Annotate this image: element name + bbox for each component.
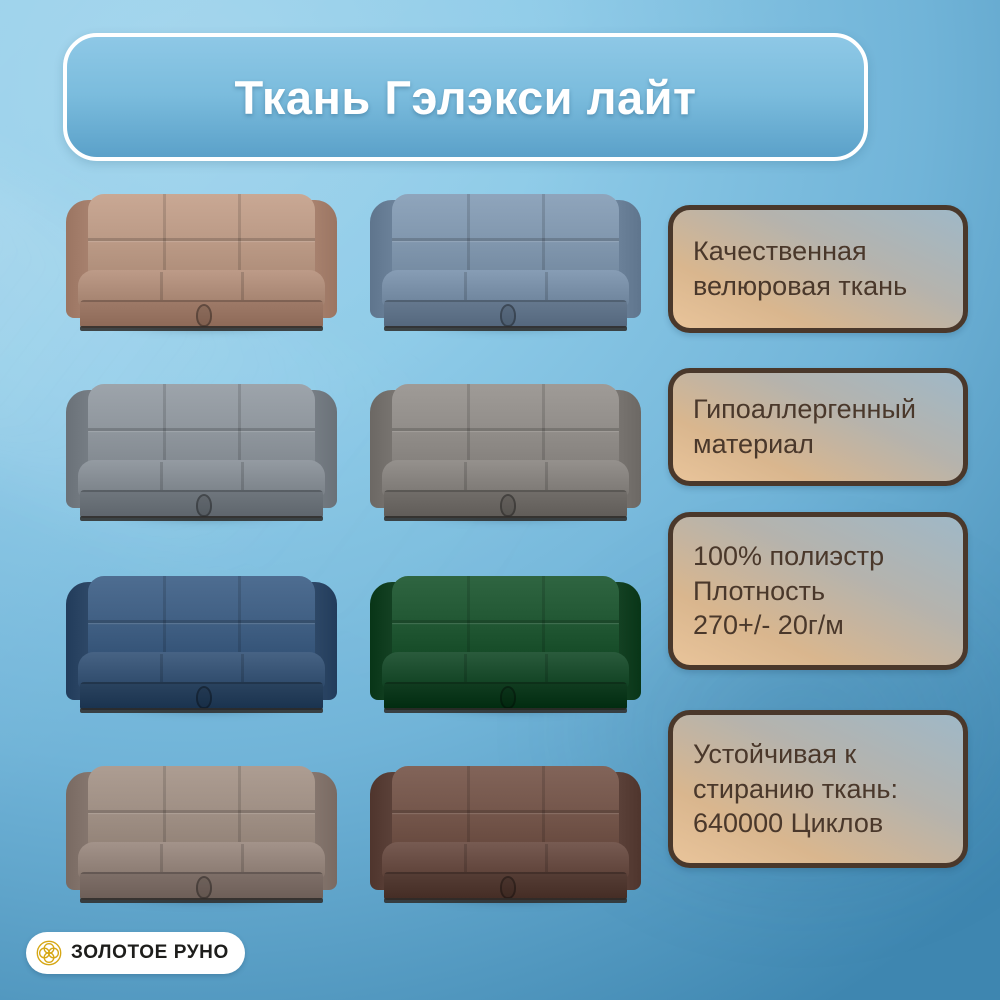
- seam-horizontal: [88, 238, 315, 241]
- feature-line: Качественная: [693, 234, 943, 269]
- feature-line: Устойчивая к: [693, 737, 943, 772]
- brand-logo[interactable]: ЗОЛОТОЕ РУНО: [26, 932, 245, 974]
- sofa-foot-rail: [384, 708, 627, 713]
- sofa-foot-rail: [384, 516, 627, 521]
- seam-vertical: [238, 576, 241, 662]
- brand-name: ЗОЛОТОЕ РУНО: [71, 942, 229, 964]
- seam-vertical: [542, 384, 545, 470]
- seam-vertical: [467, 384, 470, 470]
- feature-badge-composition-density: 100% полиэстр Плотность 270+/- 20г/м: [668, 512, 968, 670]
- seam-vertical: [467, 576, 470, 662]
- product-swatch-beige[interactable]: [64, 188, 339, 353]
- sofa-pull-handle-icon: [500, 304, 516, 327]
- feature-line: материал: [693, 427, 943, 462]
- base-topline: [80, 300, 323, 302]
- base-topline: [384, 682, 627, 684]
- feature-line: 100% полиэстр: [693, 539, 943, 574]
- seam-horizontal: [88, 620, 315, 623]
- base-topline: [80, 490, 323, 492]
- sofa-pull-handle-icon: [500, 686, 516, 709]
- sofa-backrest: [88, 766, 315, 852]
- feature-line: Плотность: [693, 574, 943, 609]
- sofa-illustration: [64, 570, 339, 735]
- base-topline: [384, 872, 627, 874]
- seam-vertical: [467, 766, 470, 852]
- product-swatch-taupe[interactable]: [64, 760, 339, 925]
- sofa-backrest: [88, 576, 315, 662]
- seam-horizontal: [88, 810, 315, 813]
- feature-line: 270+/- 20г/м: [693, 608, 943, 643]
- sofa-pull-handle-icon: [500, 494, 516, 517]
- sofa-pull-handle-icon: [500, 876, 516, 899]
- base-topline: [80, 682, 323, 684]
- seam-vertical: [467, 194, 470, 280]
- sofa-pull-handle-icon: [196, 876, 212, 899]
- product-swatch-blue-gray[interactable]: [368, 188, 643, 353]
- sofa-foot-rail: [384, 326, 627, 331]
- seam-horizontal: [392, 238, 619, 241]
- sofa-foot-rail: [384, 898, 627, 903]
- sofa-pull-handle-icon: [196, 494, 212, 517]
- sofa-illustration: [64, 188, 339, 353]
- product-swatch-navy-blue[interactable]: [64, 570, 339, 735]
- product-swatch-dark-green[interactable]: [368, 570, 643, 735]
- seam-horizontal: [392, 620, 619, 623]
- sofa-illustration: [368, 378, 643, 543]
- page-title-box: Ткань Гэлэкси лайт: [63, 33, 868, 161]
- feature-line: стиранию ткань:: [693, 772, 943, 807]
- base-topline: [80, 872, 323, 874]
- sofa-foot-rail: [80, 326, 323, 331]
- base-topline: [384, 490, 627, 492]
- seam-vertical: [163, 384, 166, 470]
- seam-vertical: [542, 576, 545, 662]
- golden-fleece-rosette-icon: [36, 940, 62, 966]
- feature-line: 640000 Циклов: [693, 806, 943, 841]
- seam-vertical: [542, 194, 545, 280]
- sofa-backrest: [88, 384, 315, 470]
- page-title: Ткань Гэлэкси лайт: [234, 70, 696, 125]
- seam-vertical: [238, 384, 241, 470]
- seam-horizontal: [88, 428, 315, 431]
- seam-horizontal: [392, 810, 619, 813]
- sofa-backrest: [88, 194, 315, 280]
- sofa-pull-handle-icon: [196, 304, 212, 327]
- feature-badge-hypoallergenic: Гипоаллергенный материал: [668, 368, 968, 486]
- sofa-backrest: [392, 384, 619, 470]
- sofa-illustration: [368, 188, 643, 353]
- seam-vertical: [163, 576, 166, 662]
- seam-vertical: [238, 766, 241, 852]
- sofa-foot-rail: [80, 898, 323, 903]
- product-swatch-brown[interactable]: [368, 760, 643, 925]
- product-swatch-cool-gray[interactable]: [64, 378, 339, 543]
- product-color-grid: [58, 188, 648, 918]
- sofa-illustration: [64, 378, 339, 543]
- sofa-illustration: [64, 760, 339, 925]
- feature-line: велюровая ткань: [693, 269, 943, 304]
- sofa-pull-handle-icon: [196, 686, 212, 709]
- sofa-backrest: [392, 766, 619, 852]
- feature-badge-abrasion-resistance: Устойчивая к стиранию ткань: 640000 Цикл…: [668, 710, 968, 868]
- feature-line: Гипоаллергенный: [693, 392, 943, 427]
- sofa-foot-rail: [80, 516, 323, 521]
- sofa-illustration: [368, 570, 643, 735]
- product-swatch-warm-gray[interactable]: [368, 378, 643, 543]
- sofa-illustration: [368, 760, 643, 925]
- seam-horizontal: [392, 428, 619, 431]
- seam-vertical: [163, 194, 166, 280]
- sofa-foot-rail: [80, 708, 323, 713]
- base-topline: [384, 300, 627, 302]
- seam-vertical: [238, 194, 241, 280]
- feature-badge-quality-velour: Качественная велюровая ткань: [668, 205, 968, 333]
- poster-canvas: Ткань Гэлэкси лайт: [0, 0, 1000, 1000]
- sofa-backrest: [392, 194, 619, 280]
- seam-vertical: [163, 766, 166, 852]
- sofa-backrest: [392, 576, 619, 662]
- seam-vertical: [542, 766, 545, 852]
